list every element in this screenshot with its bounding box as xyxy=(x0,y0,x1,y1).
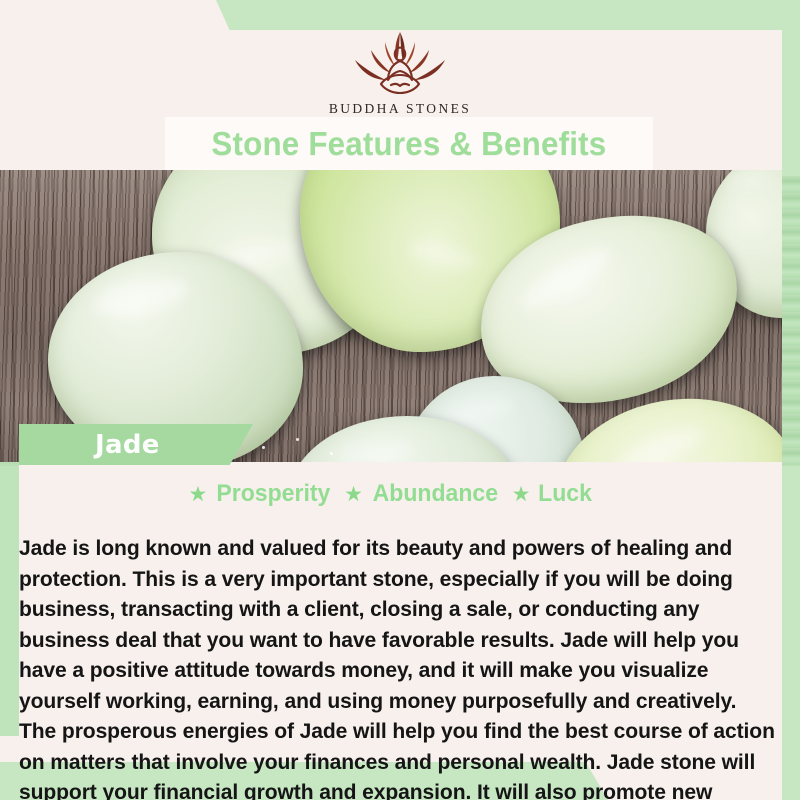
infographic-card: BUDDHA STONES Stone Features & Benefits … xyxy=(0,0,800,800)
benefit-label: Luck xyxy=(539,480,593,508)
lotus-meditation-icon xyxy=(333,28,467,100)
page-title: Stone Features & Benefits xyxy=(212,125,607,163)
stone-name-banner: Jade xyxy=(19,424,253,465)
benefit-label: Prosperity xyxy=(217,480,331,508)
photo-highlight-speck xyxy=(296,438,299,441)
star-icon: ★ xyxy=(344,484,363,505)
benefit-item-prosperity: ★ Prosperity xyxy=(189,480,334,508)
stone-description: Jade is long known and valued for its be… xyxy=(19,533,777,800)
brand-wordmark: BUDDHA STONES xyxy=(329,101,471,117)
star-icon: ★ xyxy=(189,484,208,505)
photo-highlight-speck xyxy=(330,452,333,455)
star-icon: ★ xyxy=(512,484,531,505)
benefit-label: Abundance xyxy=(373,480,498,508)
benefit-item-luck: ★ Luck xyxy=(512,480,594,508)
benefit-item-abundance: ★ Abundance xyxy=(344,480,501,508)
photo-highlight-speck xyxy=(262,446,265,449)
section-title-band: Stone Features & Benefits xyxy=(165,117,653,170)
brand-logo: BUDDHA STONES xyxy=(0,28,800,120)
stone-name-label: Jade xyxy=(95,430,160,460)
decor-green-texture-right xyxy=(782,176,800,466)
benefits-row: ★ Prosperity ★ Abundance ★ Luck xyxy=(0,479,782,509)
stone-photo xyxy=(0,170,782,462)
